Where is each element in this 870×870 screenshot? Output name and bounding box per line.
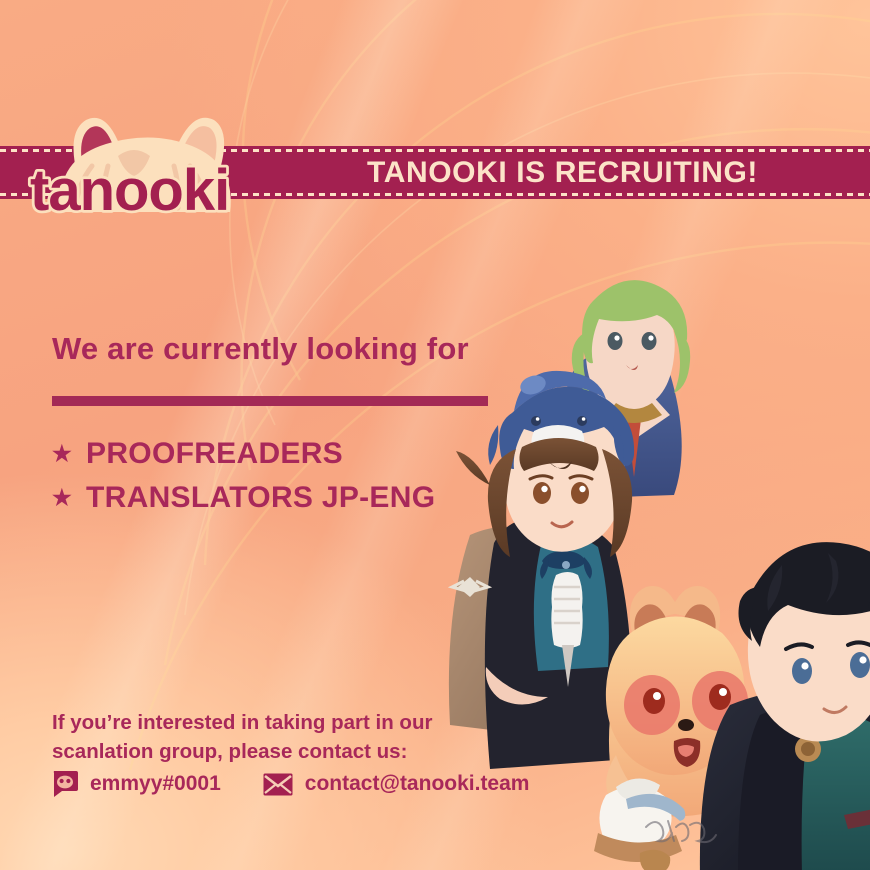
email-address: contact@tanooki.team — [305, 772, 530, 796]
contact-instructions-line1: If you’re interested in taking part in o… — [52, 708, 482, 737]
discord-handle: emmyy#0001 — [90, 772, 221, 796]
contacts-row: emmyy#0001 contact@tanooki.team — [52, 770, 529, 798]
logo-wordmark: tanooki — [30, 158, 229, 218]
page-title: We are currently looking for — [52, 331, 469, 367]
star-icon: ★ — [52, 443, 72, 465]
divider-rule — [52, 396, 488, 406]
discord-contact[interactable]: emmyy#0001 — [52, 770, 221, 798]
email-contact[interactable]: contact@tanooki.team — [263, 772, 530, 796]
tanooki-logo: tanooki — [22, 108, 272, 218]
envelope-icon — [263, 773, 293, 796]
contact-instructions-line2: scanlation group, please contact us: — [52, 737, 482, 766]
role-label: TRANSLATORS JP-ENG — [86, 476, 435, 520]
role-label: PROOFREADERS — [86, 432, 343, 476]
discord-icon — [52, 770, 78, 798]
recruitment-poster: TANOOKI IS RECRUITING! tanooki We are cu… — [0, 0, 870, 870]
list-item: ★ TRANSLATORS JP-ENG — [52, 476, 435, 520]
roles-list: ★ PROOFREADERS ★ TRANSLATORS JP-ENG — [52, 432, 435, 520]
star-icon: ★ — [52, 487, 72, 509]
contact-instructions: If you’re interested in taking part in o… — [52, 708, 482, 766]
list-item: ★ PROOFREADERS — [52, 432, 435, 476]
